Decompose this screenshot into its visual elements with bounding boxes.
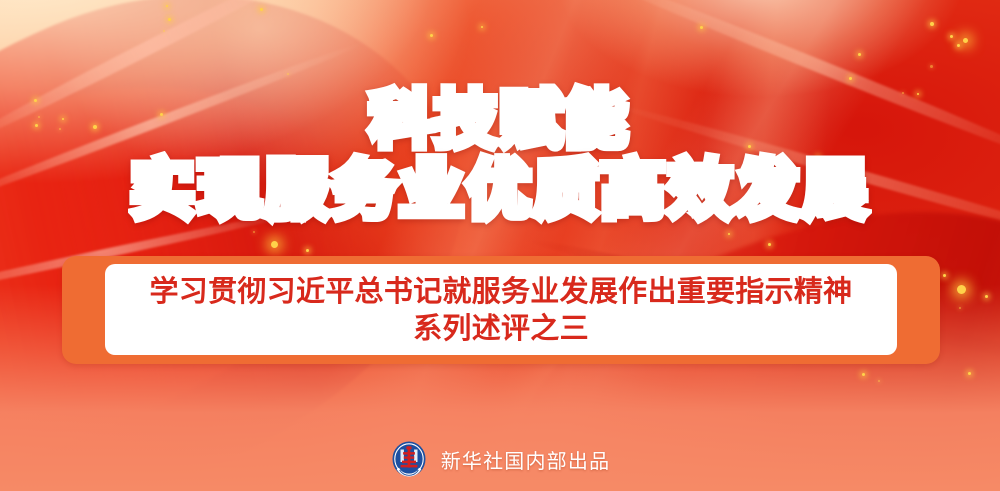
gold-sparkle [985,295,988,298]
title-line-2: 实现服务业优质高效发展 [130,158,869,225]
gold-sparkle [728,233,730,235]
gold-sparkle [430,34,433,37]
gold-sparkle [287,73,289,75]
gold-sparkle [700,26,703,29]
subtitle-line-1: 学习贯彻习近平总书记就服务业发展作出重要指示精神 [150,274,853,309]
gold-sparkle [878,380,880,382]
subtitle-line-2: 系列述评之三 [413,311,589,346]
gold-sparkle [163,30,165,32]
subtitle-panel: 学习贯彻习近平总书记就服务业发展作出重要指示精神 系列述评之三 [62,256,940,364]
gold-sparkle [957,44,960,47]
title-line-1: 科技赋能 [370,88,630,152]
gold-sparkle [957,285,966,294]
gold-sparkle [481,26,483,28]
gold-sparkle [963,38,968,43]
subtitle-panel-inner: 学习贯彻习近平总书记就服务业发展作出重要指示精神 系列述评之三 [105,264,897,355]
xinhua-agency-logo-icon [390,440,428,478]
gold-sparkle [930,65,933,68]
gold-sparkle [271,241,278,248]
gold-sparkle [306,249,309,252]
gold-sparkle [849,77,852,80]
footer-credit-text: 新华社国内部出品 [441,445,611,474]
gold-sparkle [768,243,771,246]
gold-sparkle [968,372,971,375]
main-title: 科技赋能 实现服务业优质高效发展 [0,88,1000,225]
gold-sparkle [166,5,168,7]
gold-sparkle [260,8,263,11]
gold-sparkle [943,274,946,277]
poster-canvas: 科技赋能 实现服务业优质高效发展 学习贯彻习近平总书记就服务业发展作出重要指示精… [0,0,1000,491]
gold-sparkle [168,18,171,21]
gold-sparkle [253,231,255,233]
gold-sparkle [959,307,961,309]
gold-sparkle [858,53,861,56]
gold-sparkle [862,373,865,376]
gold-sparkle [950,35,953,38]
gold-sparkle [930,22,934,26]
footer: 新华社国内部出品 [0,440,1000,478]
